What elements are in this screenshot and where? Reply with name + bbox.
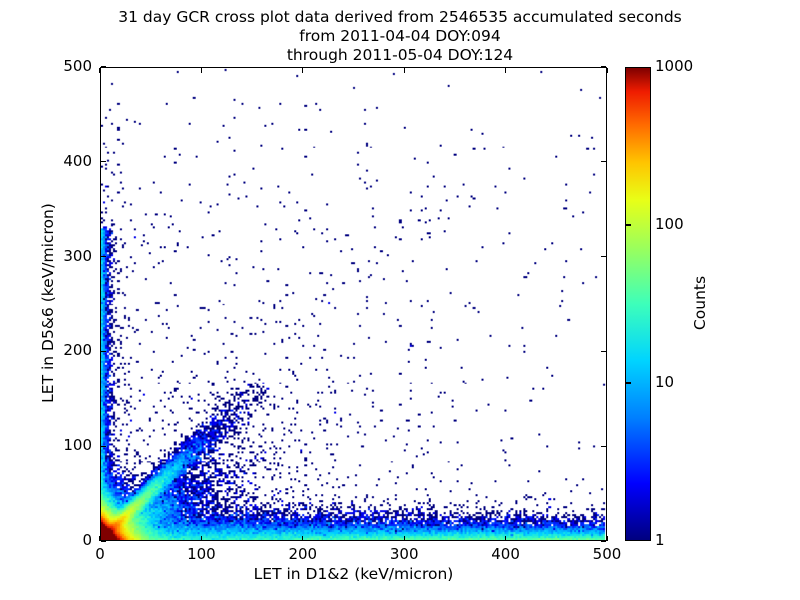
y-tick-mark-right: [601, 66, 606, 67]
y-tick-label: 500: [22, 57, 92, 75]
x-tick-mark-top: [606, 68, 607, 73]
title-line-2: from 2011-04-04 DOY:094: [0, 27, 800, 46]
y-tick-mark: [101, 351, 106, 352]
colorbar-tick-mark: [626, 224, 631, 225]
x-tick-mark-top: [505, 68, 506, 73]
x-tick-label: 100: [161, 545, 241, 563]
y-axis-label: LET in D5&6 (keV/micron): [39, 153, 57, 453]
x-tick-mark: [505, 536, 506, 541]
y-tick-mark-right: [601, 256, 606, 257]
y-tick-mark-right: [601, 446, 606, 447]
x-tick-label: 400: [466, 545, 546, 563]
colorbar-tick-label: 100: [655, 215, 684, 233]
y-tick-mark-right: [601, 351, 606, 352]
x-tick-label: 300: [364, 545, 444, 563]
y-tick-mark: [101, 161, 106, 162]
plot-axes: [100, 67, 607, 541]
y-tick-mark: [101, 66, 106, 67]
y-tick-label: 0: [22, 531, 92, 549]
y-tick-label: 300: [22, 247, 92, 265]
y-tick-label: 100: [22, 436, 92, 454]
y-tick-mark-right: [601, 540, 606, 541]
x-tick-mark-top: [302, 68, 303, 73]
title-line-1: 31 day GCR cross plot data derived from …: [0, 8, 800, 27]
x-tick-mark-top: [99, 68, 100, 73]
y-tick-mark: [101, 446, 106, 447]
colorbar-tick-label: 1000: [655, 57, 693, 75]
colorbar-gradient: [626, 68, 650, 540]
y-tick-label: 400: [22, 152, 92, 170]
x-axis-label: LET in D1&2 (keV/micron): [100, 565, 607, 583]
colorbar-tick-label: 1: [655, 531, 665, 549]
x-tick-label: 200: [263, 545, 343, 563]
heatmap-scatter-layer: [101, 68, 606, 540]
y-tick-mark: [101, 540, 106, 541]
y-tick-mark: [101, 256, 106, 257]
y-tick-label-column: 0100200300400500: [22, 0, 92, 600]
x-tick-label: 500: [567, 545, 647, 563]
x-tick-mark-top: [404, 68, 405, 73]
figure-canvas: 31 day GCR cross plot data derived from …: [0, 0, 800, 600]
x-tick-mark: [302, 536, 303, 541]
x-tick-mark: [201, 536, 202, 541]
y-tick-mark-right: [601, 161, 606, 162]
colorbar: [625, 67, 651, 541]
colorbar-label: Counts: [691, 203, 709, 403]
colorbar-tick-mark: [626, 382, 631, 383]
x-tick-mark-top: [201, 68, 202, 73]
x-tick-mark: [404, 536, 405, 541]
y-tick-label: 200: [22, 341, 92, 359]
x-tick-mark: [606, 536, 607, 541]
colorbar-tick-label: 10: [655, 373, 674, 391]
